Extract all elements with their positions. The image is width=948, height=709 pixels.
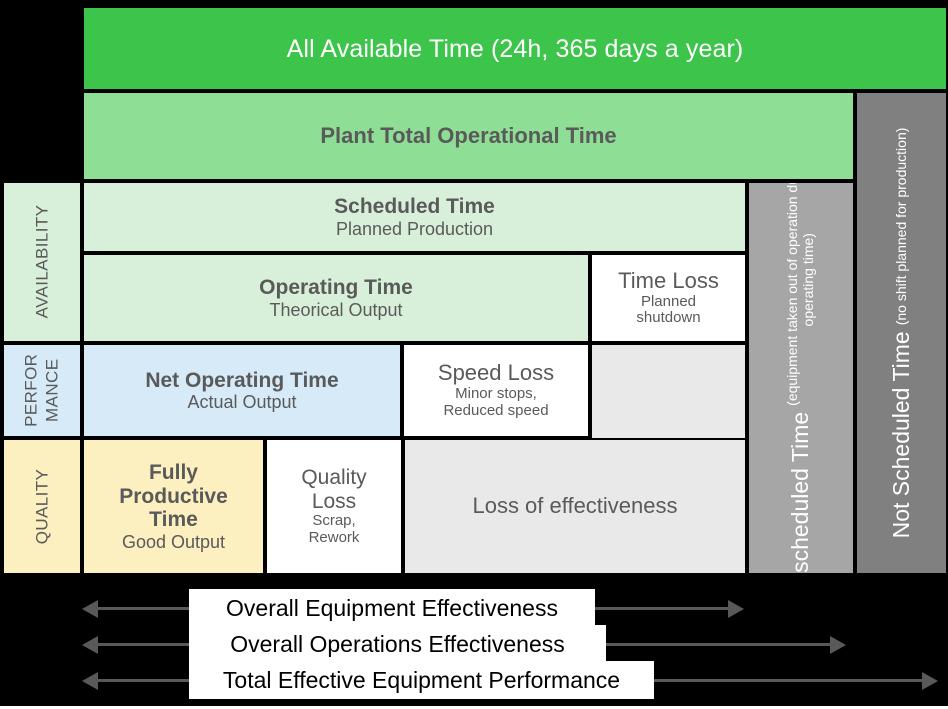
net-operating-time-sublabel: Actual Output: [187, 392, 296, 412]
side-label-quality: QUALITY: [2, 438, 82, 575]
cell-quality-loss: Quality Loss Scrap, Rework: [265, 438, 403, 575]
side-label-performance: PERFOR MANCE: [2, 343, 82, 438]
plant-total-operational-time-label: Plant Total Operational Time: [320, 124, 616, 149]
scheduled-time-label: Scheduled Time: [334, 195, 495, 219]
cell-net-operating-time: Net Operating Time Actual Output: [82, 343, 402, 438]
arrow-head-left-teep: [82, 672, 98, 690]
arrow-head-right-ooe: [830, 636, 846, 654]
metric-label-teep: Total Effective Equipment Performance: [189, 661, 654, 699]
time-loss-sublabel-2: shutdown: [636, 310, 700, 327]
metric-label-oee: Overall Equipment Effectiveness: [189, 589, 595, 627]
metric-label-ooe-text: Overall Operations Effectiveness: [230, 631, 565, 658]
time-loss-sublabel-1: Planned: [641, 294, 696, 311]
cell-operating-time: Operating Time Theorical Output: [82, 253, 590, 343]
quality-loss-sublabel-1: Scrap,: [312, 513, 355, 530]
cell-fully-productive-time: Fully Productive Time Good Output: [82, 438, 265, 575]
all-available-time-label: All Available Time (24h, 365 days a year…: [287, 35, 744, 63]
performance-label-line1: PERFOR: [21, 354, 42, 427]
fully-productive-time-sublabel: Good Output: [122, 532, 225, 552]
speed-loss-sublabel-2: Reduced speed: [443, 403, 548, 420]
metric-label-teep-text: Total Effective Equipment Performance: [223, 667, 620, 694]
arrow-head-left-oee: [82, 600, 98, 618]
not-scheduled-time-sub-line1: (no shift planned for production): [894, 128, 910, 326]
cell-plant-total-operational-time: Plant Total Operational Time: [82, 91, 855, 181]
loss-of-effectiveness-label: Loss of effectiveness: [472, 494, 677, 519]
fully-productive-time-label-3: Time: [149, 508, 198, 532]
fully-productive-time-label-2: Productive: [119, 485, 228, 509]
quality-loss-label-1: Quality: [301, 466, 366, 490]
unscheduled-time-title: Unscheduled Time: [788, 412, 814, 575]
cell-speed-loss: Speed Loss Minor stops, Reduced speed: [402, 343, 590, 438]
oee-diagram: All Available Time (24h, 365 days a year…: [0, 0, 948, 709]
quality-loss-sublabel-2: Rework: [309, 530, 360, 547]
time-loss-label: Time Loss: [618, 269, 719, 294]
arrow-head-right-oee: [728, 600, 744, 618]
not-scheduled-time-title: Not Scheduled Time: [889, 331, 915, 538]
operating-time-label: Operating Time: [259, 276, 413, 300]
side-label-availability: AVAILABILITY: [2, 181, 82, 343]
unscheduled-time-sub: (equipment taken out of operation during…: [785, 181, 816, 406]
operating-time-sublabel: Theorical Output: [269, 300, 402, 320]
unscheduled-time-rotated: Unscheduled Time (equipment taken out of…: [751, 183, 851, 573]
quality-loss-label-2: Loss: [312, 490, 356, 514]
performance-label: PERFOR MANCE: [21, 354, 64, 427]
metric-label-ooe: Overall Operations Effectiveness: [189, 625, 606, 663]
cell-loss-of-effectiveness: [590, 343, 747, 438]
cell-time-loss: Time Loss Planned shutdown: [590, 253, 747, 343]
cell-scheduled-time: Scheduled Time Planned Production: [82, 181, 747, 253]
cell-not-scheduled-time: Not Scheduled Time (no shift planned for…: [855, 91, 948, 575]
fully-productive-time-label-1: Fully: [149, 461, 198, 485]
speed-loss-label: Speed Loss: [438, 361, 554, 386]
performance-label-line2: MANCE: [42, 359, 63, 422]
quality-label: QUALITY: [32, 469, 51, 545]
metric-label-oee-text: Overall Equipment Effectiveness: [226, 595, 558, 622]
arrow-head-right-teep: [922, 672, 938, 690]
availability-label: AVAILABILITY: [32, 205, 51, 319]
arrow-head-left-ooe: [82, 636, 98, 654]
not-scheduled-time-rotated: Not Scheduled Time (no shift planned for…: [862, 123, 942, 543]
net-operating-time-label: Net Operating Time: [145, 369, 338, 393]
unscheduled-time-sub-line2: operating time): [801, 233, 817, 326]
cell-loss-of-effectiveness-label: Loss of effectiveness: [403, 438, 747, 575]
speed-loss-sublabel-1: Minor stops,: [455, 386, 537, 403]
cell-unscheduled-time: Unscheduled Time (equipment taken out of…: [747, 181, 855, 575]
unscheduled-time-sub-line1: (equipment taken out of operation during: [785, 181, 801, 406]
scheduled-time-sublabel: Planned Production: [336, 219, 493, 239]
cell-all-available-time: All Available Time (24h, 365 days a year…: [82, 6, 948, 91]
